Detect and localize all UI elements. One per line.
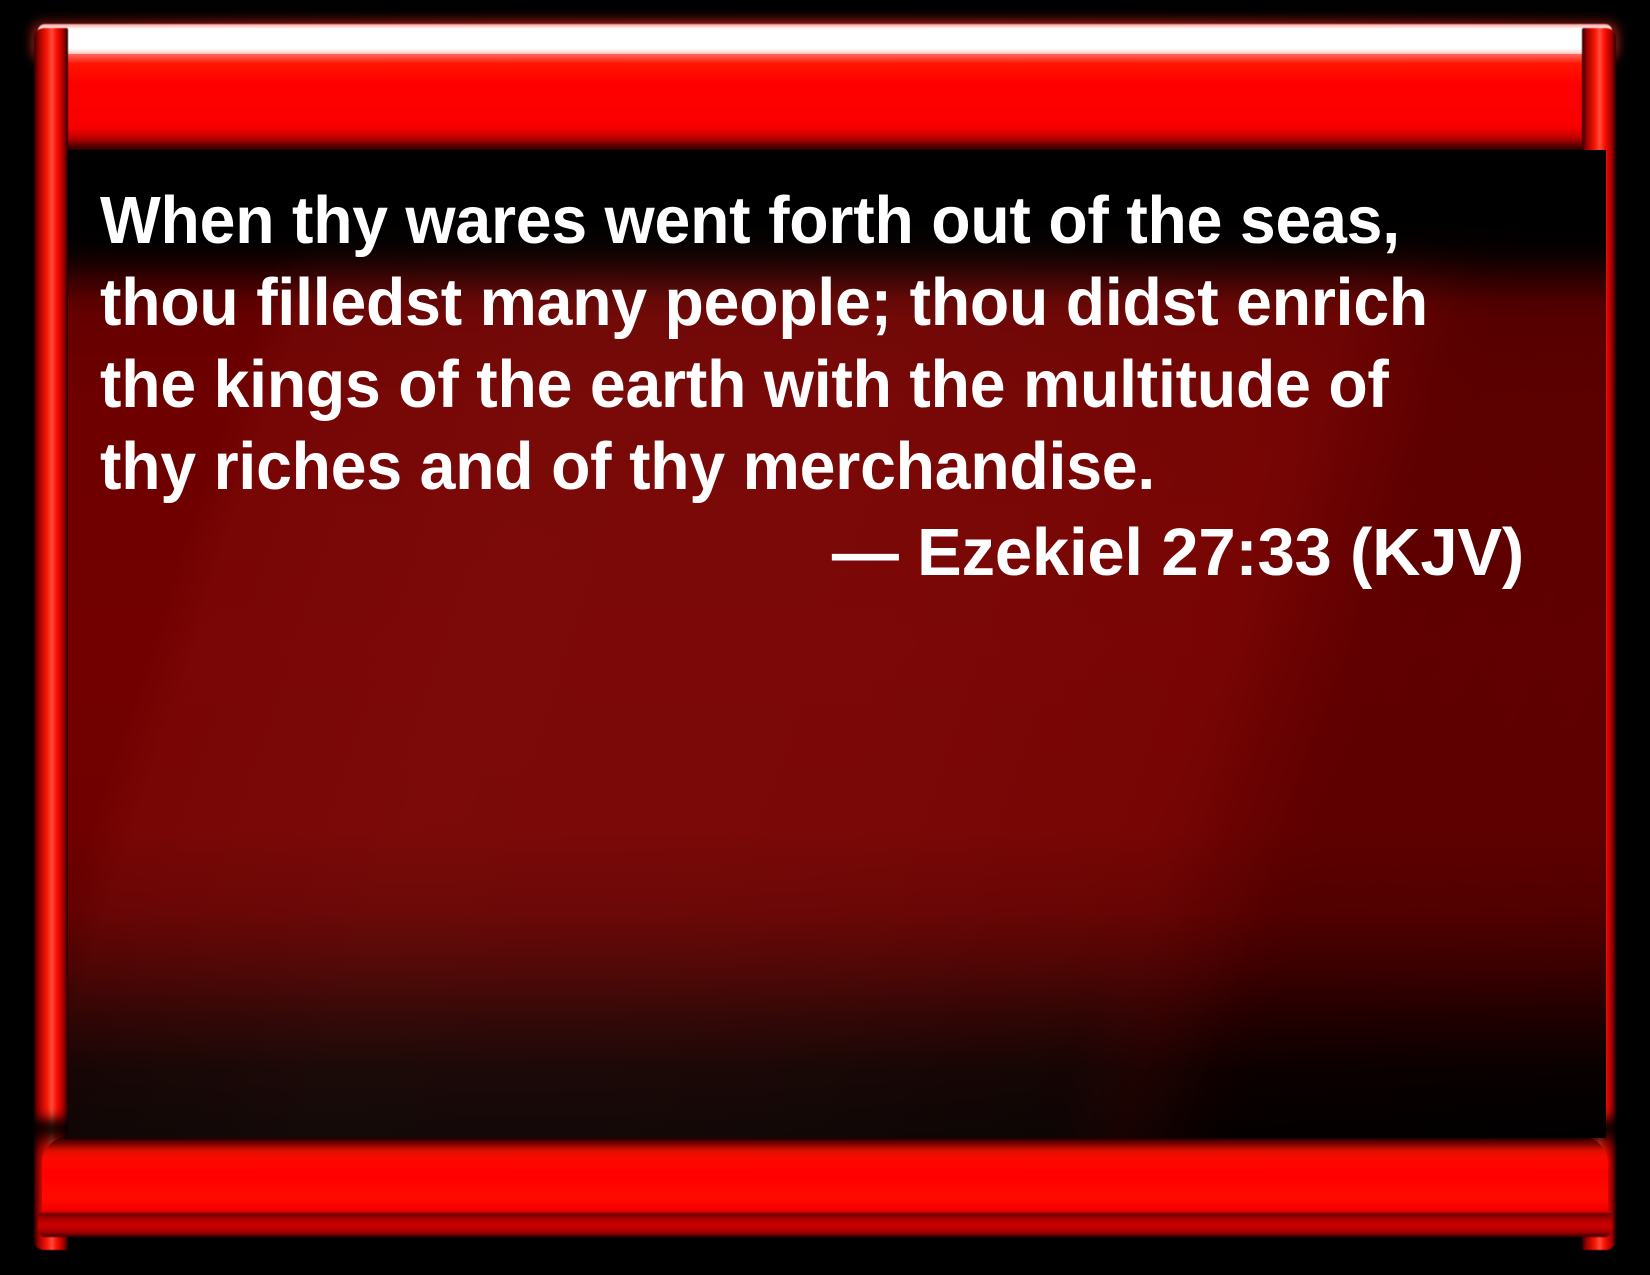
verse-panel: When thy wares went forth out of the sea… xyxy=(68,150,1606,1138)
verse-line-1: When thy wares went forth out of the sea… xyxy=(100,180,1473,262)
verse-line-3: the kings of the earth with the multitud… xyxy=(100,344,1473,426)
verse-attribution: — Ezekiel 27:33 (KJV) xyxy=(100,508,1530,594)
frame-left-rail xyxy=(34,28,68,1250)
frame-bottom-band xyxy=(42,1137,1608,1215)
frame-top-band xyxy=(42,54,1608,152)
frame-bottom-highlight xyxy=(38,1213,1612,1237)
frame-top-highlight xyxy=(38,24,1612,57)
verse-line-2: thou filledst many people; thou didst en… xyxy=(100,262,1473,344)
decorative-red-frame: When thy wares went forth out of the sea… xyxy=(12,10,1638,1265)
verse-text-block: When thy wares went forth out of the sea… xyxy=(100,180,1530,594)
verse-line-4: thy riches and of thy merchandise. xyxy=(100,426,1473,508)
verse-slide: When thy wares went forth out of the sea… xyxy=(0,0,1650,1275)
